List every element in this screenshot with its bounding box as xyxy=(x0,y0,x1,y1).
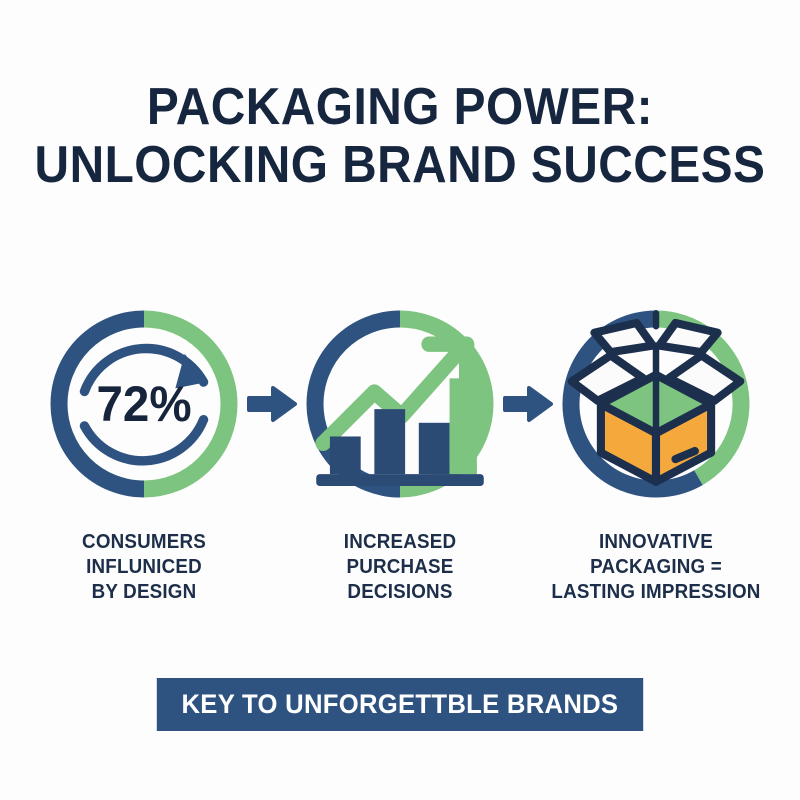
caption-3-line-3: LASTING IMPRESSION xyxy=(548,580,764,605)
connector-arrow-1 xyxy=(240,310,304,498)
progress-ring-3 xyxy=(562,310,750,498)
arrow-right-icon xyxy=(503,385,553,423)
caption-3-line-1: INNOVATIVE xyxy=(548,530,764,555)
caption-1-line-2: INFLUNICED xyxy=(54,555,234,580)
ring-content-1: 72% xyxy=(50,310,238,498)
growth-bar-chart-icon xyxy=(306,310,494,498)
caption-innovative-packaging: INNOVATIVE PACKAGING = LASTING IMPRESSIO… xyxy=(548,530,764,605)
captions-row: CONSUMERS INFLUNICED BY DESIGN INCREASED… xyxy=(0,530,800,605)
stat-value-1: 72% xyxy=(96,379,191,429)
connector-arrow-2 xyxy=(496,310,560,498)
caption-increased-purchase: INCREASED PURCHASE DECISIONS xyxy=(310,530,490,605)
step-innovative-packaging xyxy=(560,310,752,498)
title-line-1: PACKAGING POWER: xyxy=(32,78,768,136)
progress-ring-1: 72% xyxy=(50,310,238,498)
steps-row: 72% xyxy=(0,310,800,510)
progress-ring-2 xyxy=(306,310,494,498)
caption-consumers-influenced: CONSUMERS INFLUNICED BY DESIGN xyxy=(54,530,234,605)
title-line-2: UNLOCKING BRAND SUCCESS xyxy=(32,136,768,194)
arrow-right-icon xyxy=(247,385,297,423)
step-increased-purchase xyxy=(304,310,496,498)
footer-banner: KEY TO UNFORGETTBLE BRANDS xyxy=(157,678,643,731)
caption-1-line-1: CONSUMERS xyxy=(54,530,234,555)
caption-2-line-1: INCREASED xyxy=(310,530,490,555)
page-title: PACKAGING POWER: UNLOCKING BRAND SUCCESS xyxy=(0,78,800,194)
infographic-canvas: PACKAGING POWER: UNLOCKING BRAND SUCCESS xyxy=(0,0,800,800)
open-box-icon xyxy=(562,310,750,498)
caption-2-line-3: DECISIONS xyxy=(310,580,490,605)
ring-content-3 xyxy=(562,310,750,498)
ring-content-2 xyxy=(306,310,494,498)
caption-2-line-2: PURCHASE xyxy=(310,555,490,580)
step-consumers-influenced: 72% xyxy=(48,310,240,498)
caption-3-line-2: PACKAGING = xyxy=(548,555,764,580)
caption-1-line-3: BY DESIGN xyxy=(54,580,234,605)
footer-banner-wrap: KEY TO UNFORGETTBLE BRANDS xyxy=(0,678,800,731)
